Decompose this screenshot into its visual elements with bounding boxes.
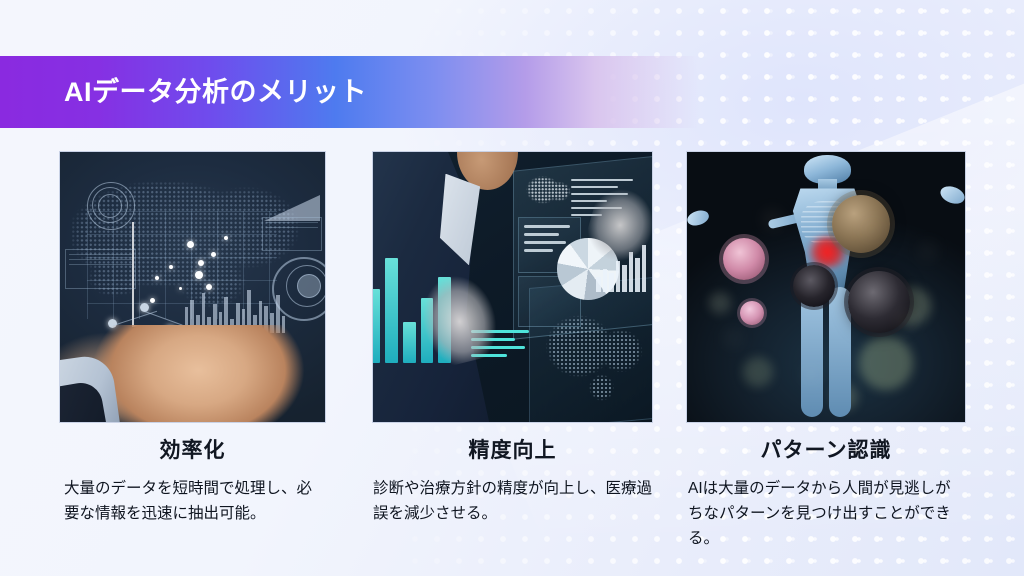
card-3-title: パターン認識 [686, 434, 966, 464]
page-title: AIデータ分析のメリット [64, 76, 367, 108]
virus-cell-black-small [793, 265, 835, 307]
left-hand [686, 208, 711, 228]
card-2-body: 診断や治療方針の精度が向上し、医療過誤を減少させる。 [373, 476, 653, 526]
particle [731, 336, 735, 340]
data-panel-right [262, 217, 322, 251]
card-1-image [59, 151, 326, 423]
card-2-title: 精度向上 [372, 434, 653, 464]
mini-world-map [524, 174, 571, 209]
hud-ring-right [297, 274, 321, 298]
card-3-body: AIは大量のデータから人間が見逃しがちなパターンを見つけ出すことができる。 [688, 476, 966, 551]
virus-cell-black-large [848, 271, 910, 333]
virus-cell-pink [723, 238, 765, 280]
businessman-dashboard-illustration [373, 152, 652, 422]
slide-root: AIデータ分析のメリット [0, 0, 1024, 576]
scatter-point [195, 271, 203, 279]
card-3-image [686, 151, 966, 423]
particle [926, 249, 930, 253]
card-1-body: 大量のデータを短時間で処理し、必要な情報を迅速に抽出可能。 [64, 476, 326, 526]
virus-cell-pink-small [740, 301, 764, 325]
scatter-point [211, 252, 216, 257]
data-panel-left [65, 249, 136, 289]
bokeh-light [709, 292, 731, 314]
virus-cell-brown [832, 195, 890, 253]
scatter-point [198, 260, 204, 266]
card-1-title: 効率化 [59, 434, 326, 464]
world-map-dots [540, 314, 652, 406]
right-hand [938, 183, 966, 207]
card-2-image [372, 151, 653, 423]
hand-data-hologram-illustration [60, 152, 325, 422]
anatomy-virus-illustration [687, 152, 965, 422]
scatter-point [150, 298, 155, 303]
